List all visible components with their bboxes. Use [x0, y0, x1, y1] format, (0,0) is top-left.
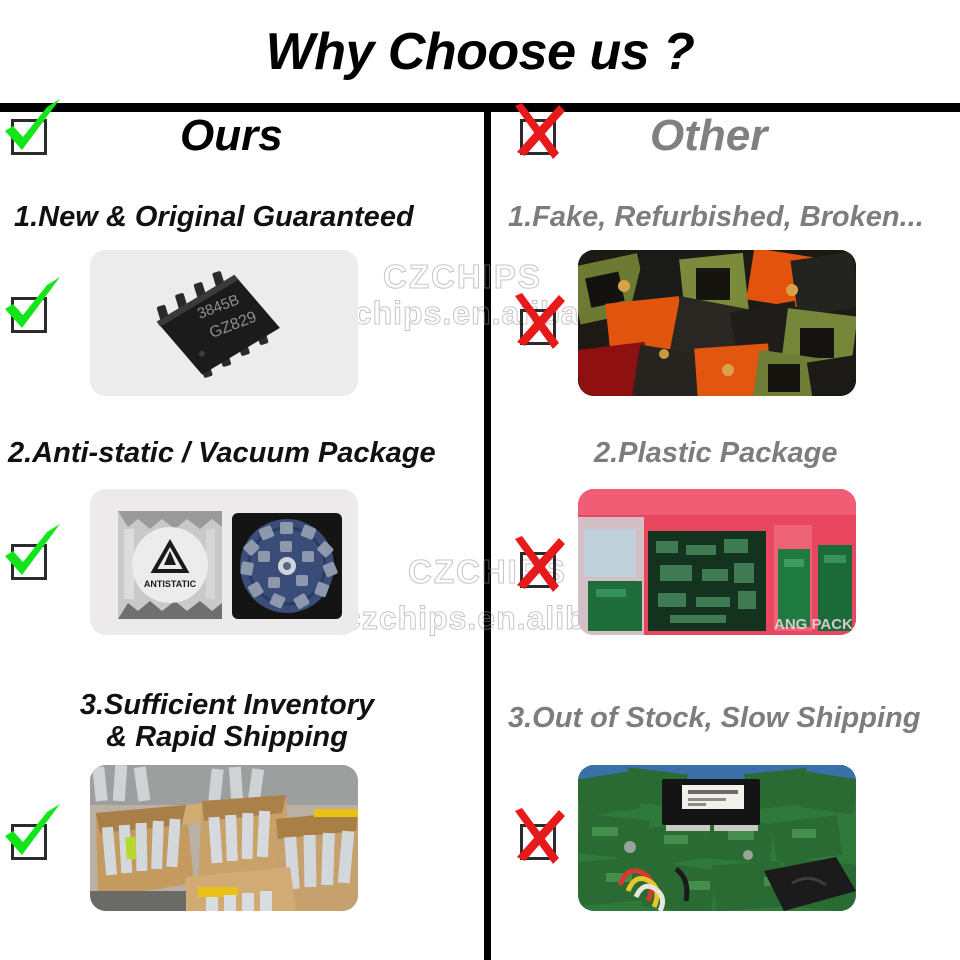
ours-row-3-caption-line1: 3.Sufficient Inventory: [80, 689, 374, 721]
check-mark-icon: [4, 535, 50, 581]
other-row-2-caption: 2.Plastic Package: [594, 437, 837, 469]
other-row-1-caption: 1.Fake, Refurbished, Broken...: [508, 201, 924, 233]
ours-row-3-caption-line2: & Rapid Shipping: [106, 721, 348, 753]
check-mark-icon: [4, 288, 50, 334]
ours-row-3-image: [90, 765, 358, 911]
why-choose-us-comparison-infographic: Why Choose us ? CZCHIPS czchips.en.aliba…: [0, 0, 960, 960]
column-divider-vertical: [484, 112, 491, 960]
header-divider-horizontal: [0, 103, 960, 112]
ours-row-1-caption: 1.New & Original Guaranteed: [14, 201, 414, 233]
ours-row-2-caption: 2.Anti-static / Vacuum Package: [8, 437, 436, 469]
other-row-3-image: [578, 765, 856, 911]
other-row-1-image: [578, 250, 856, 396]
ours-row-1-image: 3845B GZ829: [90, 250, 358, 396]
cross-mark-icon: [513, 543, 559, 589]
ours-row-3-caption: 3.Sufficient Inventory & Rapid Shipping: [62, 689, 392, 754]
other-row-3-caption: 3.Out of Stock, Slow Shipping: [508, 702, 920, 734]
page-title: Why Choose us ?: [0, 22, 960, 82]
other-row-2-image: ANG PACK: [578, 489, 856, 635]
svg-text:ANG PACK: ANG PACK: [774, 616, 853, 633]
cross-mark-icon: [513, 300, 559, 346]
cross-mark-icon: [513, 110, 559, 156]
check-mark-icon: [4, 110, 50, 156]
svg-text:ANTISTATIC: ANTISTATIC: [144, 579, 197, 589]
ours-row-2-image: ANTISTATIC: [90, 489, 358, 635]
cross-mark-icon: [513, 815, 559, 861]
column-header-other: Other: [650, 111, 767, 161]
check-mark-icon: [4, 815, 50, 861]
column-header-ours: Ours: [180, 111, 283, 161]
